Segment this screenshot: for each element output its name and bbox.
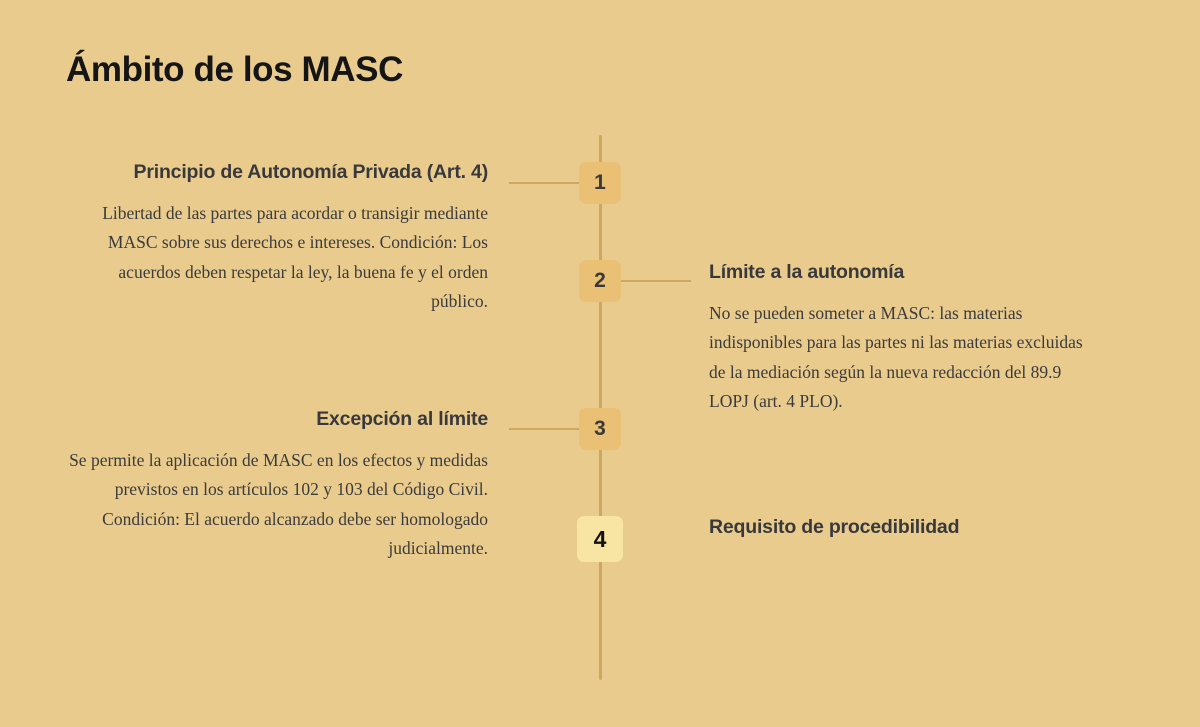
connector-line-1: [509, 182, 581, 184]
timeline-item-1-body: Libertad de las partes para acordar o tr…: [68, 199, 488, 317]
timeline-item-3-heading: Excepción al límite: [68, 407, 488, 433]
infographic-canvas: Ámbito de los MASC 1 2 3 4 Principio de …: [0, 0, 1200, 727]
page-title: Ámbito de los MASC: [66, 50, 403, 90]
timeline-item-2-body: No se pueden someter a MASC: las materia…: [709, 299, 1089, 417]
timeline-node-1[interactable]: 1: [579, 162, 621, 204]
timeline-item-1-heading: Principio de Autonomía Privada (Art. 4): [68, 160, 488, 186]
timeline-item-3-body: Se permite la aplicación de MASC en los …: [68, 446, 488, 564]
connector-line-2: [619, 280, 691, 282]
timeline-item-4-heading: Requisito de procedibilidad: [709, 515, 1089, 541]
timeline-item-1: Principio de Autonomía Privada (Art. 4) …: [68, 160, 488, 316]
timeline-item-4: Requisito de procedibilidad: [709, 515, 1089, 541]
timeline-node-2[interactable]: 2: [579, 260, 621, 302]
timeline-item-3: Excepción al límite Se permite la aplica…: [68, 407, 488, 563]
connector-line-3: [509, 428, 581, 430]
timeline-item-2: Límite a la autonomía No se pueden somet…: [709, 260, 1089, 416]
timeline-node-4[interactable]: 4: [577, 516, 623, 562]
timeline-item-2-heading: Límite a la autonomía: [709, 260, 1089, 286]
timeline-node-3[interactable]: 3: [579, 408, 621, 450]
